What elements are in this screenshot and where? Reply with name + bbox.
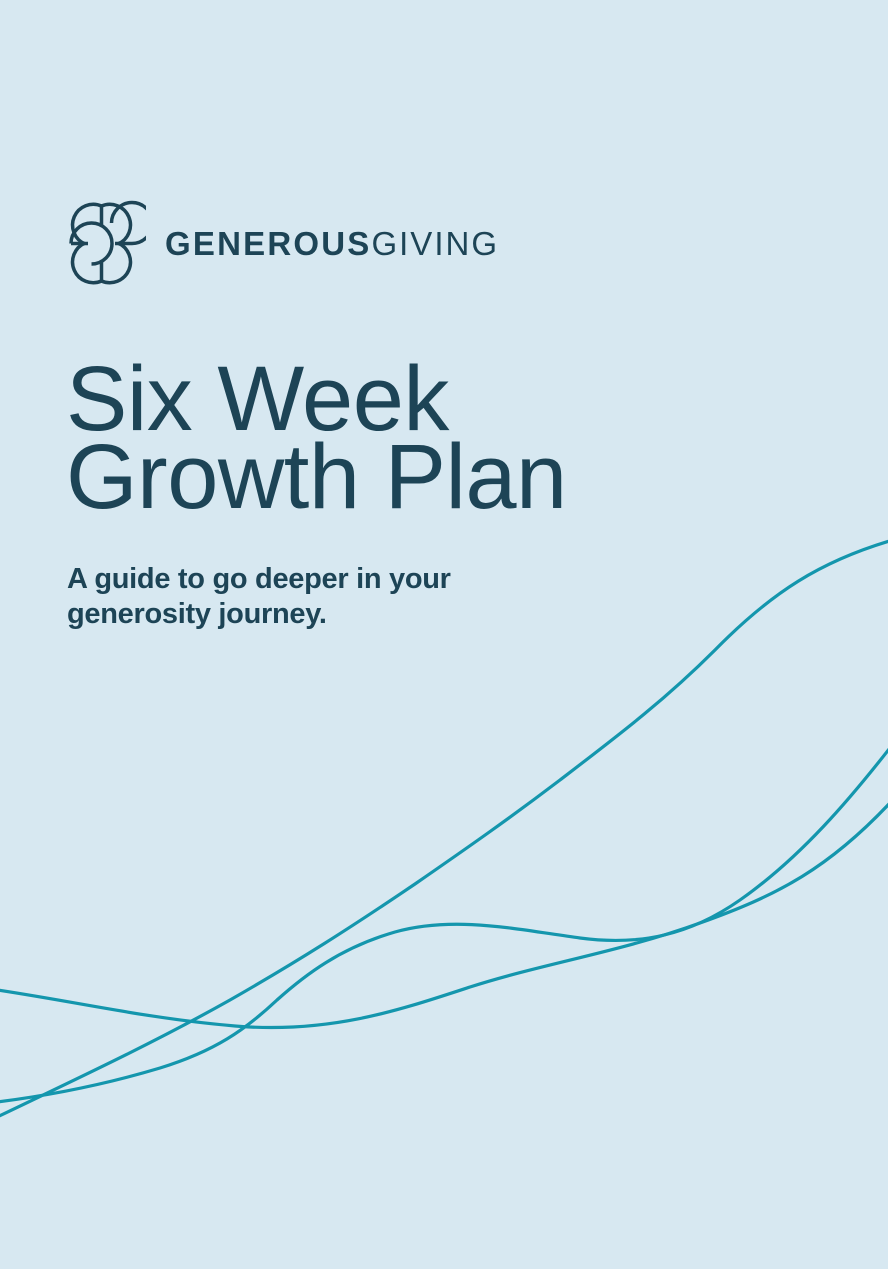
growth-curves-graphic [0, 0, 888, 1269]
page-title: Six Week Growth Plan [66, 360, 567, 516]
curve-mid-sweep [0, 735, 888, 1105]
cover-page: GENEROUS GIVING Six Week Growth Plan A g… [0, 0, 888, 1269]
page-title-line-2: Growth Plan [66, 438, 567, 516]
wordmark-generous: GENEROUS [165, 227, 371, 260]
curve-gentle-rise [0, 792, 888, 1028]
brand-logo-lockup[interactable]: GENEROUS GIVING [57, 196, 499, 291]
wordmark-giving: GIVING [371, 227, 499, 260]
page-subtitle-line-1: A guide to go deeper in your [67, 562, 507, 597]
page-subtitle-line-2: generosity journey. [67, 597, 507, 632]
generous-giving-quatrefoil-mark [57, 196, 146, 291]
brand-wordmark: GENEROUS GIVING [165, 227, 499, 260]
page-subtitle: A guide to go deeper in your generosity … [67, 562, 507, 632]
